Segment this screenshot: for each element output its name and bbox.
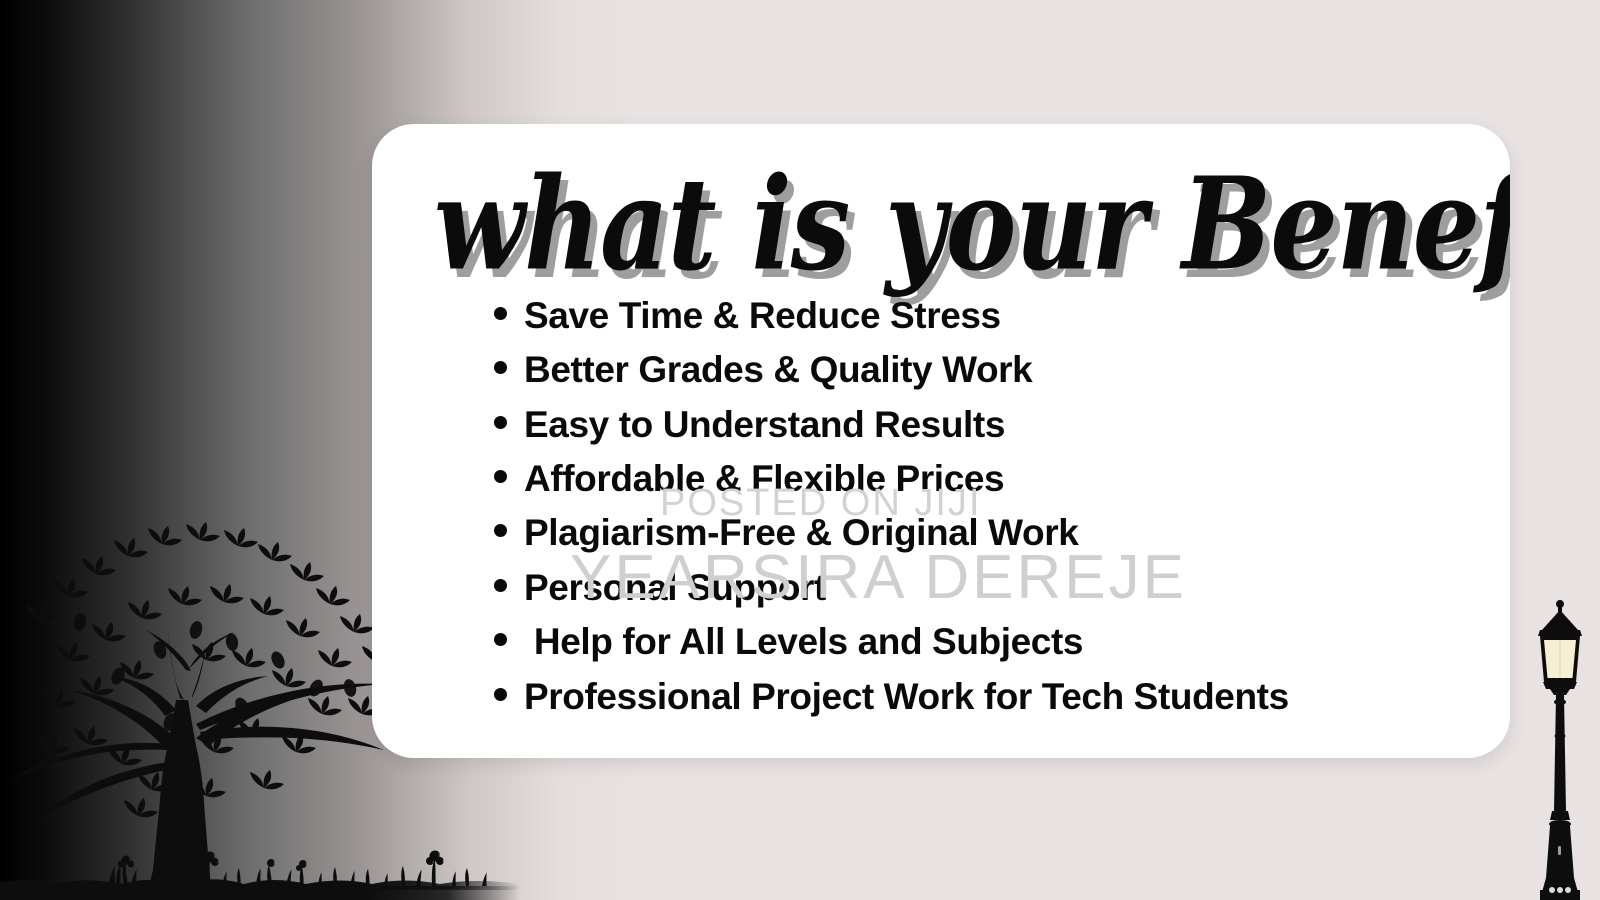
list-item: Save Time & Reduce Stress: [494, 292, 1494, 339]
bullet-dot-icon: [494, 579, 507, 592]
list-item-label: Help for All Levels and Subjects: [524, 618, 1083, 665]
list-item-label: Professional Project Work for Tech Stude…: [524, 673, 1289, 720]
list-item: Help for All Levels and Subjects: [494, 618, 1494, 665]
content-card: what is your Benefits Save Time & Reduce…: [372, 124, 1510, 758]
list-item: Better Grades & Quality Work: [494, 346, 1494, 393]
list-item-label: Personal Support: [524, 564, 826, 611]
bullet-dot-icon: [494, 416, 507, 429]
list-item-label: Better Grades & Quality Work: [524, 346, 1032, 393]
page-title: what is your Benefits: [434, 160, 1424, 290]
bullet-dot-icon: [494, 361, 507, 374]
list-item: Plagiarism-Free & Original Work: [494, 509, 1494, 556]
list-item: Easy to Understand Results: [494, 401, 1494, 448]
slide-canvas: what is your Benefits Save Time & Reduce…: [0, 0, 1600, 900]
bullet-dot-icon: [494, 688, 507, 701]
benefits-list: Save Time & Reduce Stress Better Grades …: [494, 292, 1494, 727]
bullet-dot-icon: [494, 524, 507, 537]
list-item-label: Save Time & Reduce Stress: [524, 292, 1001, 339]
grass-silhouette-icon: [0, 820, 520, 900]
list-item-label: Easy to Understand Results: [524, 401, 1005, 448]
bullet-dot-icon: [494, 633, 507, 646]
list-item-label: Affordable & Flexible Prices: [524, 455, 1004, 502]
bullet-dot-icon: [494, 307, 507, 320]
list-item: Professional Project Work for Tech Stude…: [494, 673, 1494, 720]
street-lamp-icon: [1516, 596, 1594, 900]
list-item: Personal Support: [494, 564, 1494, 611]
bullet-dot-icon: [494, 470, 507, 483]
list-item-label: Plagiarism-Free & Original Work: [524, 509, 1078, 556]
list-item: Affordable & Flexible Prices: [494, 455, 1494, 502]
